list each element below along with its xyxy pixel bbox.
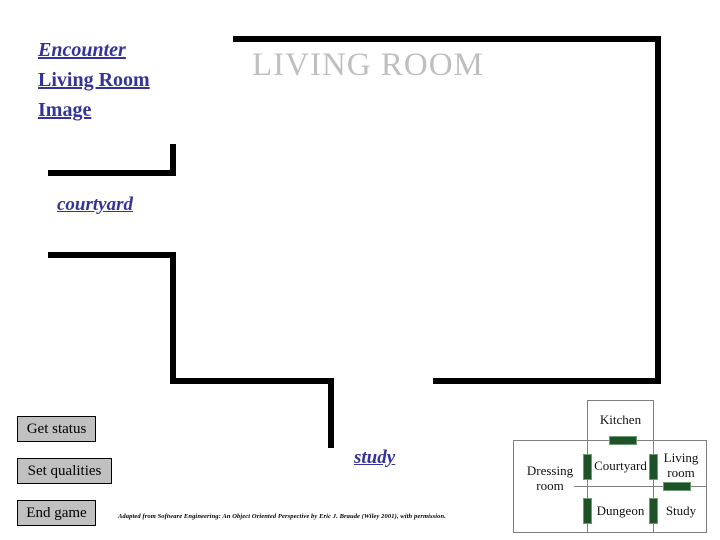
wall-entry-horizontal: [48, 170, 176, 176]
wall-right: [655, 36, 661, 384]
hotspot-link-courtyard[interactable]: courtyard: [57, 194, 133, 216]
credit-attribution: Adapted from Software Engineering: An Ob…: [118, 513, 446, 520]
link-living-room[interactable]: Living Room: [38, 65, 238, 95]
fp-label-courtyard: Courtyard: [588, 458, 653, 473]
wall-left-mid-vertical: [170, 252, 176, 384]
fp-label-living-room-1: Living: [657, 450, 705, 465]
hotspot-link-study[interactable]: study: [354, 447, 395, 469]
fp-label-dungeon: Dungeon: [588, 503, 653, 518]
get-status-button[interactable]: Get status: [17, 416, 96, 442]
fp-kitchen-right-wall: [653, 400, 654, 440]
fp-label-dressing-room-1: Dressing: [515, 463, 585, 478]
fp-door-kitchen-courtyard: [609, 436, 637, 445]
floor-plan-thumbnail[interactable]: Kitchen Courtyard Living room Dressing r…: [511, 398, 711, 536]
fp-label-study: Study: [657, 503, 705, 518]
wall-bottom-right: [433, 378, 661, 384]
wall-top: [233, 36, 661, 42]
link-image[interactable]: Image: [38, 95, 238, 125]
fp-label-kitchen: Kitchen: [588, 412, 653, 427]
fp-outer-left-wall: [513, 440, 514, 533]
fp-label-living-room-2: room: [657, 465, 705, 480]
navigation-links: Encounter Living Room Image: [38, 35, 238, 125]
set-qualities-button[interactable]: Set qualities: [17, 458, 112, 484]
page-title: LIVING ROOM: [252, 47, 484, 84]
fp-kitchen-top-wall: [587, 400, 654, 401]
fp-door-living-study: [663, 482, 691, 491]
link-encounter[interactable]: Encounter: [38, 35, 238, 65]
wall-left-upper: [48, 252, 176, 258]
end-game-button[interactable]: End game: [17, 500, 96, 526]
wall-bottom-mid-vertical: [328, 378, 334, 448]
fp-outer-bottom-wall: [513, 532, 707, 533]
fp-label-dressing-room-2: room: [515, 478, 585, 493]
wall-bottom-left: [176, 378, 334, 384]
